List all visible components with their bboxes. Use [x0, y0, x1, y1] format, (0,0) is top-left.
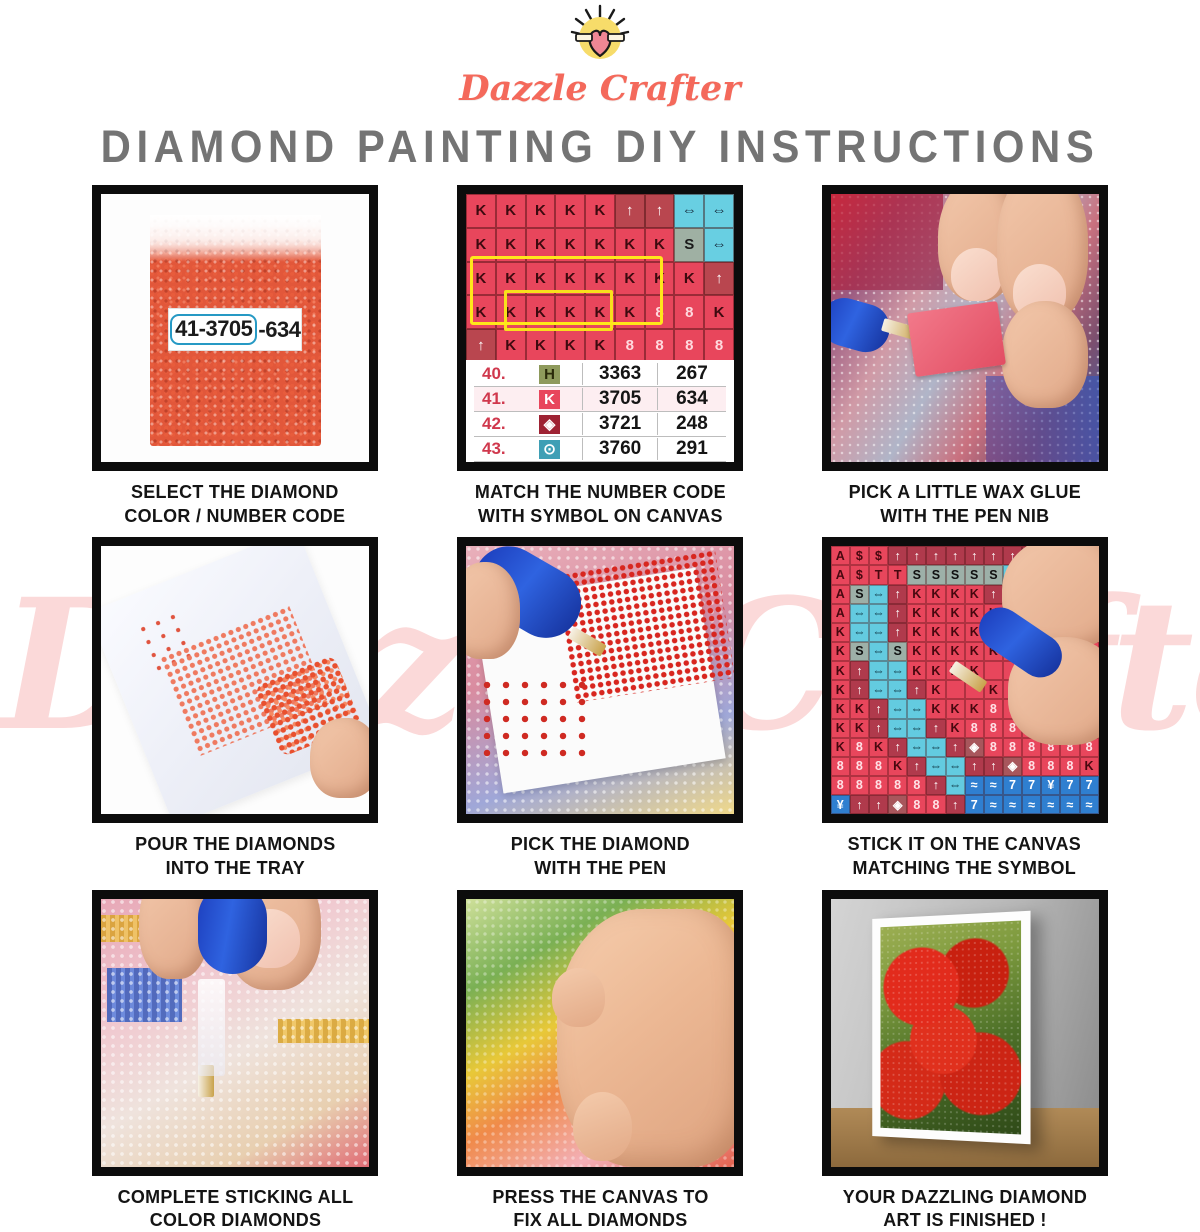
chart-cell: 7: [1003, 776, 1022, 795]
chart-cell: 7: [965, 795, 984, 814]
chart-cell: K: [907, 642, 926, 661]
canvas-chart-legend-photo: KKKKK↑↑⇔⇔KKKKKKKS⇔KKKKKKKK↑KKKKKK88K↑KKK…: [457, 185, 743, 471]
chart-cell: ≈: [1022, 795, 1041, 814]
chart-cell: $: [850, 565, 869, 584]
step-caption-9: YOUR DAZZLING DIAMOND ART IS FINISHED !: [842, 1185, 1086, 1232]
chart-cell: ◈: [1003, 757, 1022, 776]
chart-cell: K: [946, 604, 965, 623]
chart-cell: ⇔: [704, 228, 734, 262]
chart-cell: K: [831, 623, 850, 642]
chart-cell: 8: [704, 329, 734, 363]
chart-cell: ⇔: [888, 661, 907, 680]
chart-cell: 8: [869, 776, 888, 795]
chart-cell: K: [926, 680, 945, 699]
chart-cell: ↑: [645, 194, 675, 228]
step-card-7: COMPLETE STICKING ALL COLOR DIAMONDS: [62, 890, 409, 1232]
chart-cell: K: [555, 329, 585, 363]
chart-cell: K: [831, 719, 850, 738]
chart-cell: 8: [831, 776, 850, 795]
chart-cell: ⇔: [888, 699, 907, 718]
chart-cell: 8: [674, 329, 704, 363]
chart-cell: ⇔: [850, 604, 869, 623]
chart-cell: 8: [907, 776, 926, 795]
chart-cell: K: [907, 623, 926, 642]
legend-row-symbol: K: [517, 390, 583, 409]
legend-highlight-box: [470, 256, 663, 326]
step-card-8: PRESS THE CANVAS TO FIX ALL DIAMONDS: [427, 890, 774, 1232]
step-caption-8: PRESS THE CANVAS TO FIX ALL DIAMONDS: [492, 1185, 708, 1232]
chart-cell: K: [526, 194, 556, 228]
chart-cell: 8: [831, 757, 850, 776]
chart-cell: K: [926, 661, 945, 680]
chart-cell: K: [965, 699, 984, 718]
chart-cell: 8: [869, 757, 888, 776]
step-caption-7: COMPLETE STICKING ALL COLOR DIAMONDS: [117, 1185, 353, 1232]
step-card-5: PICK THE DIAMOND WITH THE PEN: [427, 537, 774, 879]
chart-cell: K: [585, 329, 615, 363]
chart-cell: S: [984, 565, 1003, 584]
chart-cell: 8: [850, 757, 869, 776]
chart-cell: 8: [1060, 757, 1079, 776]
chart-cell: K: [965, 642, 984, 661]
chart-cell: K: [496, 194, 526, 228]
chart-cell: K: [946, 642, 965, 661]
finished-framed-art-photo: [822, 890, 1108, 1176]
chart-cell: ↑: [888, 623, 907, 642]
chart-cell: ↑: [984, 757, 1003, 776]
chart-cell: ≈: [1060, 795, 1079, 814]
legend-row-count: 267: [658, 363, 726, 385]
chart-cell: ⇔: [674, 194, 704, 228]
chart-cell: ↑: [850, 795, 869, 814]
chart-cell: ↑: [907, 757, 926, 776]
chart-cell: ↑: [907, 680, 926, 699]
chart-cell: ↑: [888, 604, 907, 623]
chart-cell: ↑: [850, 661, 869, 680]
chart-cell: 8: [888, 776, 907, 795]
chart-cell: ↑: [926, 719, 945, 738]
legend-row-dmc: 3760: [582, 438, 658, 460]
chart-cell: S: [926, 565, 945, 584]
brand-name: Dazzle Crafter: [0, 68, 1200, 109]
step-card-6: A$$↑↑↑↑↑↑↑↑↑KKA$TTSSSSS⇔⇔SAS⇔↑KKKK↑⇔⇔⇔A⇔…: [791, 537, 1138, 879]
step-card-2: KKKKK↑↑⇔⇔KKKKKKKS⇔KKKKKKKK↑KKKKKK88K↑KKK…: [427, 185, 774, 527]
chart-cell: 8: [674, 295, 704, 329]
chart-cell: A: [831, 546, 850, 565]
chart-cell: ↑: [965, 546, 984, 565]
steps-grid: 41-3705-634 SELECT THE DIAMOND COLOR / N…: [0, 173, 1200, 1232]
chart-cell: K: [831, 738, 850, 757]
step-caption-6: STICK IT ON THE CANVAS MATCHING THE SYMB…: [848, 832, 1081, 879]
chart-cell: 8: [615, 329, 645, 363]
chart-cell: T: [888, 565, 907, 584]
chart-cell: ◈: [888, 795, 907, 814]
chart-cell: A: [831, 604, 850, 623]
step-card-4: POUR THE DIAMONDS INTO THE TRAY: [62, 537, 409, 879]
bag-code-suffix: -634: [258, 317, 300, 343]
chart-cell: ↑: [946, 546, 965, 565]
chart-cell: ↑: [615, 194, 645, 228]
chart-cell: 8: [984, 719, 1003, 738]
chart-cell: S: [965, 565, 984, 584]
chart-cell: K: [926, 699, 945, 718]
chart-cell: [946, 680, 965, 699]
legend-row[interactable]: 42.◈3721248: [474, 412, 726, 437]
legend-row-symbol: ⊙: [517, 440, 583, 459]
chart-cell: ◈: [965, 738, 984, 757]
chart-cell: K: [585, 194, 615, 228]
picture-frame: [872, 910, 1030, 1144]
chart-cell: K: [926, 642, 945, 661]
chart-cell: ⇔: [946, 776, 965, 795]
chart-cell: K: [831, 642, 850, 661]
instruction-poster: Dazzle Crafter DIAMOND PAINTING DIY INST…: [0, 0, 1200, 1200]
chart-cell: ⇔: [850, 623, 869, 642]
legend-row-number: 41.: [474, 389, 517, 409]
chart-cell: K: [831, 699, 850, 718]
chart-cell: S: [674, 228, 704, 262]
chart-cell: K: [965, 585, 984, 604]
heart-with-brush-sunburst-icon: [564, 4, 636, 72]
chart-cell: 8: [926, 795, 945, 814]
step-caption-1: SELECT THE DIAMOND COLOR / NUMBER CODE: [125, 480, 346, 527]
chart-row: ↑KKKK8888: [466, 329, 734, 363]
legend-row[interactable]: 40.H3363267: [474, 362, 726, 387]
wax-glue-square: [907, 301, 1006, 377]
chart-cell: ⇔: [869, 585, 888, 604]
complete-sticking-photo: [92, 890, 378, 1176]
stick-on-canvas-photo: A$$↑↑↑↑↑↑↑↑↑KKA$TTSSSSS⇔⇔SAS⇔↑KKKK↑⇔⇔⇔A⇔…: [822, 537, 1108, 823]
chart-cell: K: [704, 295, 734, 329]
chart-cell: A: [831, 585, 850, 604]
chart-cell: S: [888, 642, 907, 661]
legend-row-count: 248: [658, 413, 726, 435]
chart-cell: ⇔: [888, 719, 907, 738]
chart-cell: T: [869, 565, 888, 584]
chart-cell: K: [907, 604, 926, 623]
chart-cell: ↑: [984, 585, 1003, 604]
chart-cell: ≈: [984, 776, 1003, 795]
chart-cell: K: [984, 680, 1003, 699]
bag-code-highlight: 41-3705: [170, 314, 257, 345]
legend-row-number: 43.: [474, 439, 517, 459]
chart-cell: ⇔: [888, 680, 907, 699]
chart-cell: 8: [965, 719, 984, 738]
diamond-tray-photo: [92, 537, 378, 823]
chart-cell: 8: [984, 699, 1003, 718]
chart-cell: ↑: [946, 738, 965, 757]
step-caption-3: PICK A LITTLE WAX GLUE WITH THE PEN NIB: [848, 480, 1080, 527]
chart-cell: ≈: [1003, 795, 1022, 814]
chart-cell: $: [850, 546, 869, 565]
chart-cell: ↑: [888, 585, 907, 604]
chart-cell: ⇔: [907, 738, 926, 757]
legend-row-symbol: H: [517, 365, 583, 384]
chart-cell: ¥: [831, 795, 850, 814]
chart-cell: S: [907, 565, 926, 584]
chart-cell: 8: [645, 329, 675, 363]
step-caption-5: PICK THE DIAMOND WITH THE PEN: [510, 832, 689, 879]
chart-cell: ↑: [869, 719, 888, 738]
chart-cell: ↑: [869, 699, 888, 718]
legend-row-symbol: ◈: [517, 415, 583, 434]
diamond-bag-photo: 41-3705-634: [92, 185, 378, 471]
chart-cell: K: [907, 661, 926, 680]
chart-cell: $: [869, 546, 888, 565]
legend-row-dmc: 3721: [582, 413, 658, 435]
chart-row: KKKKK↑↑⇔⇔: [466, 194, 734, 228]
chart-cell: 7: [1022, 776, 1041, 795]
chart-cell: 8: [850, 776, 869, 795]
chart-cell: 8: [907, 795, 926, 814]
chart-cell: K: [946, 699, 965, 718]
chart-cell: ↑: [869, 795, 888, 814]
chart-cell: [984, 661, 1003, 680]
legend-row-number: 40.: [474, 364, 517, 384]
chart-cell: ↑: [888, 546, 907, 565]
chart-cell: ≈: [1080, 795, 1099, 814]
chart-cell: 8: [1041, 757, 1060, 776]
chart-cell: K: [869, 738, 888, 757]
legend-row-count: 634: [658, 388, 726, 410]
chart-cell: ↑: [926, 546, 945, 565]
step-card-9: YOUR DAZZLING DIAMOND ART IS FINISHED !: [791, 890, 1138, 1232]
chart-cell: 7: [1060, 776, 1079, 795]
chart-cell: ⇔: [869, 680, 888, 699]
chart-cell: ≈: [984, 795, 1003, 814]
chart-cell: ↑: [850, 680, 869, 699]
legend-row-dmc: 3363: [582, 363, 658, 385]
chart-cell: ≈: [965, 776, 984, 795]
chart-cell: K: [946, 623, 965, 642]
legend-row-number: 42.: [474, 414, 517, 434]
chart-cell: 8: [850, 738, 869, 757]
chart-cell: K: [555, 194, 585, 228]
chart-cell: ↑: [984, 546, 1003, 565]
chart-cell: K: [946, 719, 965, 738]
step-caption-2: MATCH THE NUMBER CODE WITH SYMBOL ON CAN…: [474, 480, 725, 527]
poster-header: Dazzle Crafter DIAMOND PAINTING DIY INST…: [0, 0, 1200, 173]
chart-cell: ⇔: [869, 604, 888, 623]
chart-cell: K: [946, 585, 965, 604]
chart-cell: ↑: [946, 795, 965, 814]
chart-cell: ↑: [926, 776, 945, 795]
chart-cell: K: [466, 194, 496, 228]
chart-cell: ↑: [965, 757, 984, 776]
chart-cell: ↑: [704, 262, 734, 296]
chart-cell: K: [907, 585, 926, 604]
chart-cell: ⇔: [869, 623, 888, 642]
chart-cell: ↑: [466, 329, 496, 363]
chart-cell: K: [1080, 757, 1099, 776]
legend-row[interactable]: 41.K3705634: [474, 387, 726, 412]
chart-cell: S: [946, 565, 965, 584]
chart-cell: ⇔: [926, 738, 945, 757]
page-title: DIAMOND PAINTING DIY INSTRUCTIONS: [42, 121, 1158, 173]
chart-cell: ⇔: [907, 699, 926, 718]
chart-cell: K: [674, 262, 704, 296]
chart-cell: K: [831, 661, 850, 680]
press-canvas-photo: [457, 890, 743, 1176]
legend-row-dmc: 3705: [582, 388, 658, 410]
chart-cell: ⇔: [926, 757, 945, 776]
chart-cell: K: [526, 329, 556, 363]
chart-cell: ¥: [1041, 776, 1060, 795]
chart-cell: 7: [1080, 776, 1099, 795]
chart-cell: K: [850, 699, 869, 718]
wax-glue-pen-photo: [822, 185, 1108, 471]
step-caption-4: POUR THE DIAMONDS INTO THE TRAY: [135, 832, 335, 879]
chart-cell: K: [926, 604, 945, 623]
chart-cell: ↑: [907, 546, 926, 565]
chart-cell: ⇔: [704, 194, 734, 228]
step-card-3: PICK A LITTLE WAX GLUE WITH THE PEN NIB: [791, 185, 1138, 527]
chart-cell: K: [926, 623, 945, 642]
diamond-bag: 41-3705-634: [150, 215, 322, 445]
chart-cell: ≈: [1041, 795, 1060, 814]
chart-cell: ⇔: [946, 757, 965, 776]
chart-cell: A: [831, 565, 850, 584]
pick-diamond-pen-photo: [457, 537, 743, 823]
chart-cell: ↑: [888, 738, 907, 757]
chart-cell: K: [926, 585, 945, 604]
chart-cell: 8: [1022, 757, 1041, 776]
chart-cell: K: [831, 680, 850, 699]
chart-cell: K: [496, 329, 526, 363]
step-card-1: 41-3705-634 SELECT THE DIAMOND COLOR / N…: [62, 185, 409, 527]
chart-cell: S: [850, 642, 869, 661]
chart-cell: K: [888, 757, 907, 776]
legend-row-count: 291: [658, 438, 726, 460]
chart-cell: ⇔: [907, 719, 926, 738]
chart-cell: ⇔: [869, 642, 888, 661]
legend-row[interactable]: 43.⊙3760291: [474, 437, 726, 462]
chart-cell: 8: [1003, 738, 1022, 757]
chart-cell: 8: [984, 738, 1003, 757]
color-legend-table: 40.H336326741.K370563442.◈372124843.⊙376…: [466, 360, 734, 462]
chart-cell: ⇔: [869, 661, 888, 680]
bag-label: 41-3705-634: [168, 308, 302, 352]
chart-cell: K: [850, 719, 869, 738]
chart-cell: S: [850, 585, 869, 604]
